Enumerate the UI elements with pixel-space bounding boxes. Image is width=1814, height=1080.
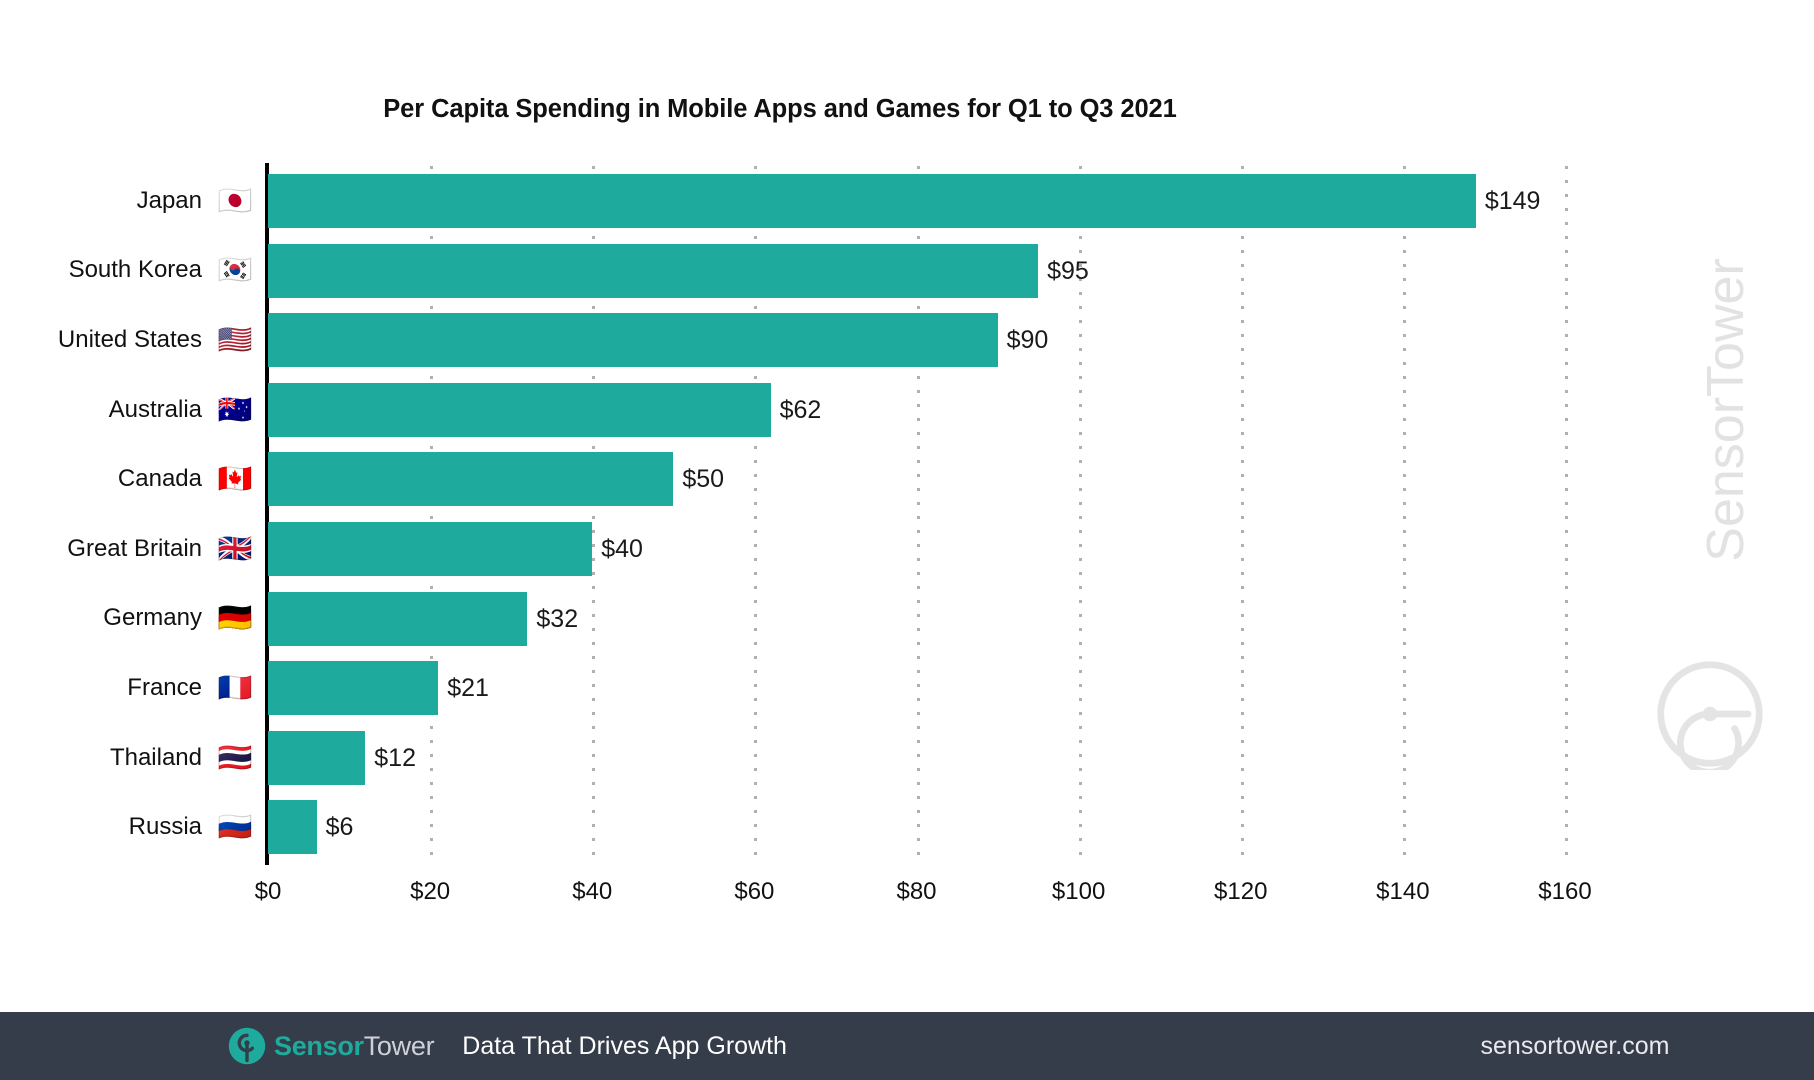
country-name: Australia [109,396,202,424]
flag-icon: 🇨🇦 [212,465,258,493]
y-axis-label-great-britain: Great Britain🇬🇧 [0,514,258,584]
gridline [1565,166,1568,862]
brand-name: SensorTower [274,1031,434,1062]
bar-row[interactable]: $90 [268,305,1565,375]
x-tick-label: $60 [734,878,774,906]
bar[interactable] [268,800,317,854]
bar-value-label: $62 [771,383,822,437]
sensortower-logo-watermark-icon [1654,658,1766,770]
bar[interactable] [268,383,771,437]
bar-value-label: $50 [673,452,724,506]
flag-icon: 🇷🇺 [212,813,258,841]
y-axis-label-australia: Australia🇦🇺 [0,375,258,445]
brand-name-first: Sensor [274,1031,364,1061]
y-axis-label-japan: Japan🇯🇵 [0,166,258,236]
watermark: SensorTower [1646,210,1796,770]
bar-value-label: $149 [1476,174,1541,228]
country-name: France [127,674,202,702]
bar-row[interactable]: $21 [268,653,1565,723]
footer-bar: SensorTower Data That Drives App Growth … [0,1012,1814,1080]
x-tick-label: $120 [1214,878,1267,906]
sensortower-logo-icon [228,1027,266,1065]
y-axis-label-south-korea: South Korea🇰🇷 [0,236,258,306]
bar-value-label: $21 [438,661,489,715]
flag-icon: 🇦🇺 [212,396,258,424]
bar[interactable] [268,592,527,646]
bar[interactable] [268,522,592,576]
country-name: Russia [129,813,202,841]
x-axis-tick-labels: $0$20$40$60$80$100$120$140$160 [268,878,1565,918]
bar-row[interactable]: $12 [268,723,1565,793]
y-axis-category-labels: Japan🇯🇵South Korea🇰🇷United States🇺🇸Austr… [0,166,258,862]
bar-value-label: $12 [365,731,416,785]
plot-area: $149$95$90$62$50$40$32$21$12$6 [268,166,1565,862]
bar-row[interactable]: $95 [268,236,1565,306]
chart-figure: Per Capita Spending in Mobile Apps and G… [0,0,1814,1012]
y-axis-label-thailand: Thailand🇹🇭 [0,723,258,793]
x-tick-label: $40 [572,878,612,906]
bar-value-label: $95 [1038,244,1089,298]
bar[interactable] [268,174,1476,228]
y-axis-label-germany: Germany🇩🇪 [0,584,258,654]
bar-row[interactable]: $40 [268,514,1565,584]
bar-value-label: $40 [592,522,643,576]
bar-row[interactable]: $62 [268,375,1565,445]
bar-row[interactable]: $32 [268,584,1565,654]
y-axis-label-russia: Russia🇷🇺 [0,792,258,862]
watermark-text: SensorTower [1696,190,1756,630]
flag-icon: 🇹🇭 [212,744,258,772]
bar-row[interactable]: $6 [268,792,1565,862]
x-tick-label: $140 [1376,878,1429,906]
footer-url: sensortower.com [1481,1032,1670,1060]
country-name: Japan [137,187,202,215]
bar[interactable] [268,452,673,506]
bar-value-label: $32 [527,592,578,646]
bar-row[interactable]: $50 [268,444,1565,514]
chart-title: Per Capita Spending in Mobile Apps and G… [0,95,1560,124]
footer-tagline: Data That Drives App Growth [462,1032,787,1061]
flag-icon: 🇰🇷 [212,256,258,284]
country-name: Canada [118,465,202,493]
country-name: United States [58,326,202,354]
bar[interactable] [268,244,1038,298]
flag-icon: 🇺🇸 [212,326,258,354]
y-axis-label-united-states: United States🇺🇸 [0,305,258,375]
bar-row[interactable]: $149 [268,166,1565,236]
bar[interactable] [268,313,998,367]
country-name: South Korea [69,256,202,284]
flag-icon: 🇬🇧 [212,535,258,563]
footer-branding: SensorTower Data That Drives App Growth [228,1027,787,1065]
x-tick-label: $100 [1052,878,1105,906]
flag-icon: 🇫🇷 [212,674,258,702]
bar-value-label: $90 [998,313,1049,367]
bar[interactable] [268,731,365,785]
y-axis-label-canada: Canada🇨🇦 [0,444,258,514]
x-tick-label: $160 [1538,878,1591,906]
flag-icon: 🇩🇪 [212,604,258,632]
bar[interactable] [268,661,438,715]
flag-icon: 🇯🇵 [212,187,258,215]
x-tick-label: $0 [255,878,282,906]
country-name: Germany [103,604,202,632]
country-name: Thailand [110,744,202,772]
country-name: Great Britain [67,535,202,563]
y-axis-label-france: France🇫🇷 [0,653,258,723]
brand-name-second: Tower [364,1031,435,1061]
x-tick-label: $80 [896,878,936,906]
x-tick-label: $20 [410,878,450,906]
bar-value-label: $6 [317,800,354,854]
